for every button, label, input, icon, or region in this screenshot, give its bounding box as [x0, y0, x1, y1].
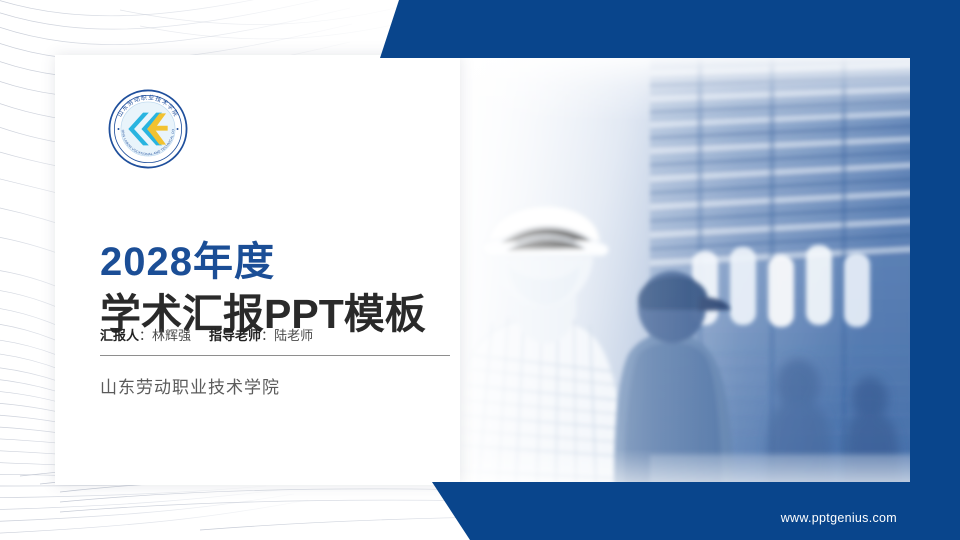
advisor-name: 陆老师 — [274, 328, 313, 343]
reporter-name: 林辉强 — [152, 328, 191, 343]
advisor-label: 指导老师 — [209, 328, 261, 343]
shandong-labor-vocational-college-emblem: 山东劳动职业技术学院 SHANDONG LABOR VOCATIONAL AND… — [107, 88, 189, 170]
headline-block: 2028年度 学术汇报PPT模板 山东劳动职业技术学院 — [100, 240, 445, 398]
reporter-label: 汇报人 — [100, 328, 139, 343]
workers-in-factory-photo — [400, 55, 913, 485]
title-year: 2028年度 — [100, 240, 445, 285]
presentation-slide: 山东劳动职业技术学院 SHANDONG LABOR VOCATIONAL AND… — [0, 0, 960, 540]
title-divider — [100, 355, 450, 356]
top-blue-band — [0, 0, 960, 58]
presenter-line: 汇报人：林辉强指导老师：陆老师 — [100, 325, 313, 344]
site-watermark: www.pptgenius.com — [781, 511, 897, 525]
title-card: 山东劳动职业技术学院 SHANDONG LABOR VOCATIONAL AND… — [55, 55, 460, 485]
reporter-colon: ： — [139, 328, 152, 343]
right-blue-band — [910, 0, 960, 540]
institution-name: 山东劳动职业技术学院 — [100, 373, 445, 398]
advisor-colon: ： — [261, 328, 274, 343]
photo-artwork — [400, 55, 913, 485]
